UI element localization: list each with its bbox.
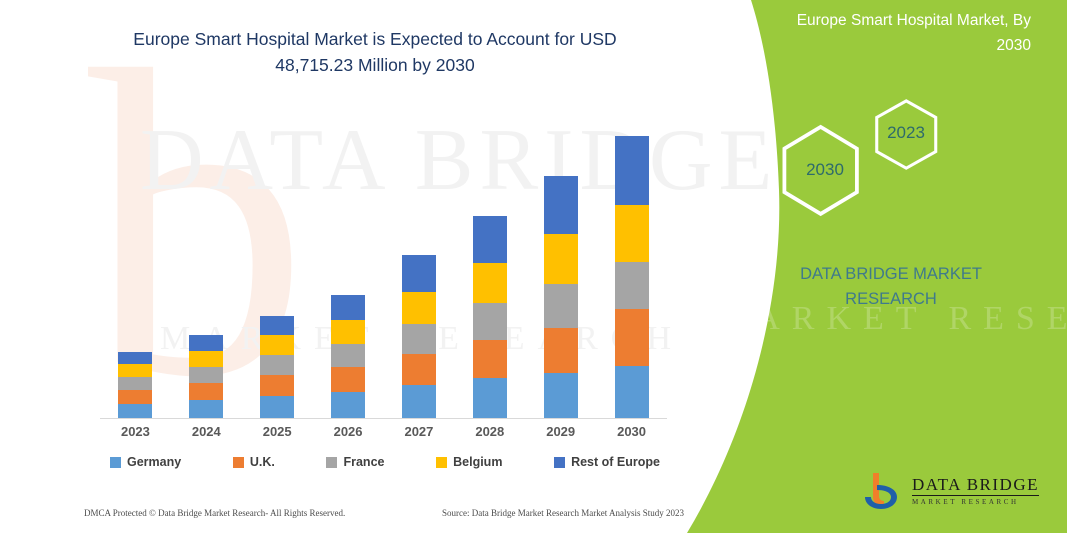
- logo-text-group: DATA BRIDGE MARKET RESEARCH: [912, 476, 1039, 506]
- panel-title-line2: 2030: [761, 33, 1031, 58]
- panel-brand-line1: DATA BRIDGE MARKET: [751, 262, 1031, 287]
- bar-segment: [615, 205, 649, 262]
- legend-swatch-icon: [233, 457, 244, 468]
- bar-segment: [260, 335, 294, 355]
- footer-copyright: DMCA Protected © Data Bridge Market Rese…: [84, 508, 345, 518]
- panel-title-line1: Europe Smart Hospital Market, By: [761, 8, 1031, 33]
- stacked-bar: [473, 216, 507, 418]
- logo-main-text: DATA BRIDGE: [912, 476, 1039, 496]
- stacked-bar: [189, 335, 223, 418]
- bar-segment: [473, 340, 507, 378]
- bar-segment: [615, 136, 649, 205]
- data-bridge-logo: DATA BRIDGE MARKET RESEARCH: [859, 471, 1039, 511]
- x-axis-label: 2024: [171, 424, 242, 439]
- x-axis-label: 2026: [313, 424, 384, 439]
- bar-segment: [473, 378, 507, 418]
- x-axis-label: 2029: [525, 424, 596, 439]
- bar-segment: [615, 309, 649, 366]
- bar-segment: [331, 344, 365, 367]
- bar-column: [384, 120, 455, 418]
- bar-segment: [402, 255, 436, 292]
- chart-area: Europe Smart Hospital Market is Expected…: [0, 0, 740, 533]
- bar-segment: [189, 335, 223, 351]
- legend-item[interactable]: Rest of Europe: [554, 455, 660, 469]
- panel-brand-text: DATA BRIDGE MARKET RESEARCH: [751, 262, 1031, 312]
- legend-swatch-icon: [436, 457, 447, 468]
- chart-title-line2: 48,715.23 Million by 2030: [275, 55, 474, 75]
- bar-segment: [544, 373, 578, 418]
- legend-swatch-icon: [110, 457, 121, 468]
- bar-segment: [189, 400, 223, 418]
- bar-column: [100, 120, 171, 418]
- stacked-bar: [331, 295, 365, 418]
- bar-column: [454, 120, 525, 418]
- hexagon-2023-label: 2023: [887, 123, 925, 142]
- bar-column: [242, 120, 313, 418]
- legend-item[interactable]: France: [326, 455, 384, 469]
- bar-segment: [402, 385, 436, 418]
- bar-segment: [260, 396, 294, 418]
- legend-swatch-icon: [554, 457, 565, 468]
- hexagon-2030-label: 2030: [806, 160, 844, 179]
- bar-segment: [189, 351, 223, 367]
- bar-segment: [615, 262, 649, 309]
- stacked-bar: [118, 352, 152, 418]
- bar-segment: [402, 292, 436, 324]
- bar-column: [171, 120, 242, 418]
- infographic-root: b DATA BRIDGE MARKET RESEARCH Europe Sma…: [0, 0, 1067, 533]
- bar-segment: [118, 377, 152, 390]
- legend-label: Germany: [127, 455, 181, 469]
- bar-segment: [473, 303, 507, 340]
- legend-label: France: [343, 455, 384, 469]
- bar-segment: [544, 328, 578, 373]
- bar-segment: [118, 352, 152, 364]
- bar-segment: [189, 367, 223, 383]
- x-axis-label: 2030: [596, 424, 667, 439]
- bar-segment: [260, 316, 294, 335]
- bar-segment: [615, 366, 649, 418]
- x-axis-line: [100, 418, 667, 419]
- bar-segment: [402, 324, 436, 354]
- bar-segment: [331, 392, 365, 418]
- footer: DMCA Protected © Data Bridge Market Rese…: [84, 508, 684, 518]
- bar-segment: [189, 383, 223, 400]
- bar-segment: [118, 404, 152, 418]
- x-axis-label: 2028: [454, 424, 525, 439]
- legend-swatch-icon: [326, 457, 337, 468]
- green-side-panel: Europe Smart Hospital Market, By 2030 MA…: [687, 0, 1067, 533]
- bar-segment: [544, 284, 578, 328]
- footer-source: Source: Data Bridge Market Research Mark…: [442, 508, 684, 518]
- bar-segment: [260, 355, 294, 375]
- panel-title: Europe Smart Hospital Market, By 2030: [761, 8, 1031, 58]
- bar-segment: [331, 295, 365, 320]
- bar-segment: [331, 367, 365, 392]
- bar-segment: [118, 390, 152, 404]
- panel-brand-line2: RESEARCH: [751, 287, 1031, 312]
- legend-item[interactable]: Germany: [110, 455, 181, 469]
- bar-segment: [118, 364, 152, 377]
- bar-segment: [544, 234, 578, 284]
- bar-segment: [473, 216, 507, 263]
- legend-item[interactable]: U.K.: [233, 455, 275, 469]
- stacked-bar: [615, 136, 649, 418]
- chart-title: Europe Smart Hospital Market is Expected…: [95, 26, 655, 78]
- stacked-bar-group: [100, 120, 667, 418]
- stacked-bar: [544, 176, 578, 418]
- x-axis-label: 2023: [100, 424, 171, 439]
- bar-segment: [331, 320, 365, 344]
- legend-label: U.K.: [250, 455, 275, 469]
- legend-item[interactable]: Belgium: [436, 455, 502, 469]
- bar-segment: [544, 176, 578, 234]
- bar-column: [313, 120, 384, 418]
- bar-segment: [260, 375, 294, 396]
- x-axis-labels: 20232024202520262027202820292030: [100, 424, 667, 439]
- x-axis-label: 2025: [242, 424, 313, 439]
- stacked-bar: [260, 316, 294, 418]
- logo-sub-text: MARKET RESEARCH: [912, 499, 1039, 506]
- stacked-bar: [402, 255, 436, 418]
- logo-mark-icon: [859, 471, 903, 511]
- legend-label: Rest of Europe: [571, 455, 660, 469]
- hexagon-group: 2030 2023: [767, 95, 967, 225]
- bar-column: [525, 120, 596, 418]
- x-axis-label: 2027: [384, 424, 455, 439]
- bar-segment: [473, 263, 507, 303]
- bar-segment: [402, 354, 436, 385]
- legend-label: Belgium: [453, 455, 502, 469]
- chart-title-line1: Europe Smart Hospital Market is Expected…: [133, 29, 616, 49]
- bar-column: [596, 120, 667, 418]
- chart-legend: GermanyU.K.FranceBelgiumRest of Europe: [110, 455, 660, 469]
